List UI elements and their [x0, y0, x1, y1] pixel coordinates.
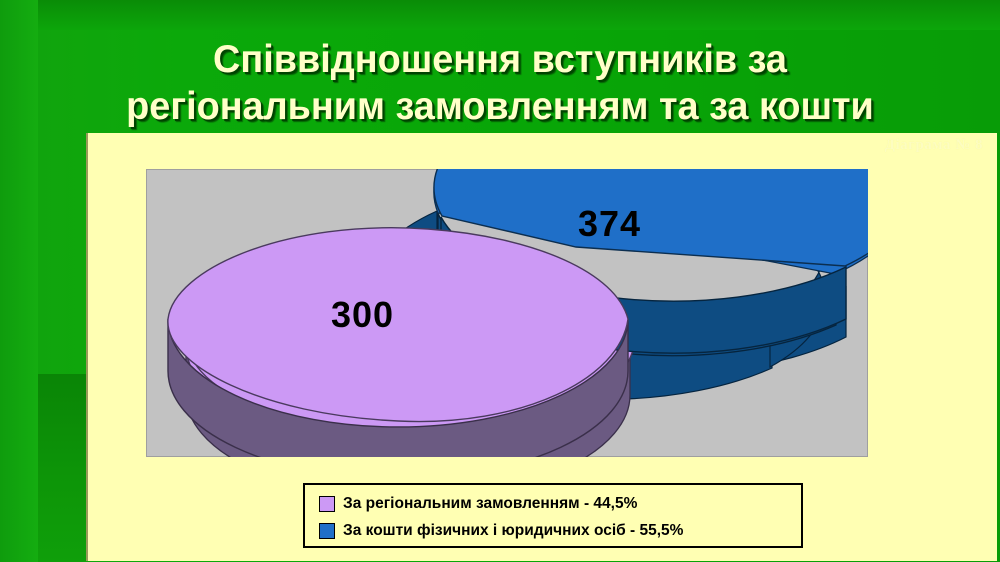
- diagram-number-caption: Діаграма № 8: [885, 137, 983, 154]
- legend-swatch-blue: [319, 523, 335, 539]
- legend-item-paid[interactable]: За кошти фізичних і юридичних осіб - 55,…: [319, 517, 801, 544]
- legend-swatch-violet: [319, 496, 335, 512]
- chart-legend: За регіональним замовленням - 44,5% За к…: [303, 483, 803, 548]
- background-accent-block: [38, 374, 86, 562]
- data-label-violet: 300: [331, 294, 394, 336]
- slide-title: Співвідношення вступників за регіональни…: [15, 36, 985, 130]
- background-top-band: [0, 0, 1000, 30]
- violet-slice-group: [168, 228, 628, 457]
- slide-canvas: Співвідношення вступників за регіональни…: [0, 0, 1000, 562]
- legend-label-regional: За регіональним замовленням - 44,5%: [343, 495, 637, 513]
- legend-label-paid: За кошти фізичних і юридичних осіб - 55,…: [343, 522, 683, 540]
- pie-chart-render: [146, 169, 868, 457]
- data-label-blue: 374: [578, 203, 641, 245]
- legend-item-regional[interactable]: За регіональним замовленням - 44,5%: [319, 490, 801, 517]
